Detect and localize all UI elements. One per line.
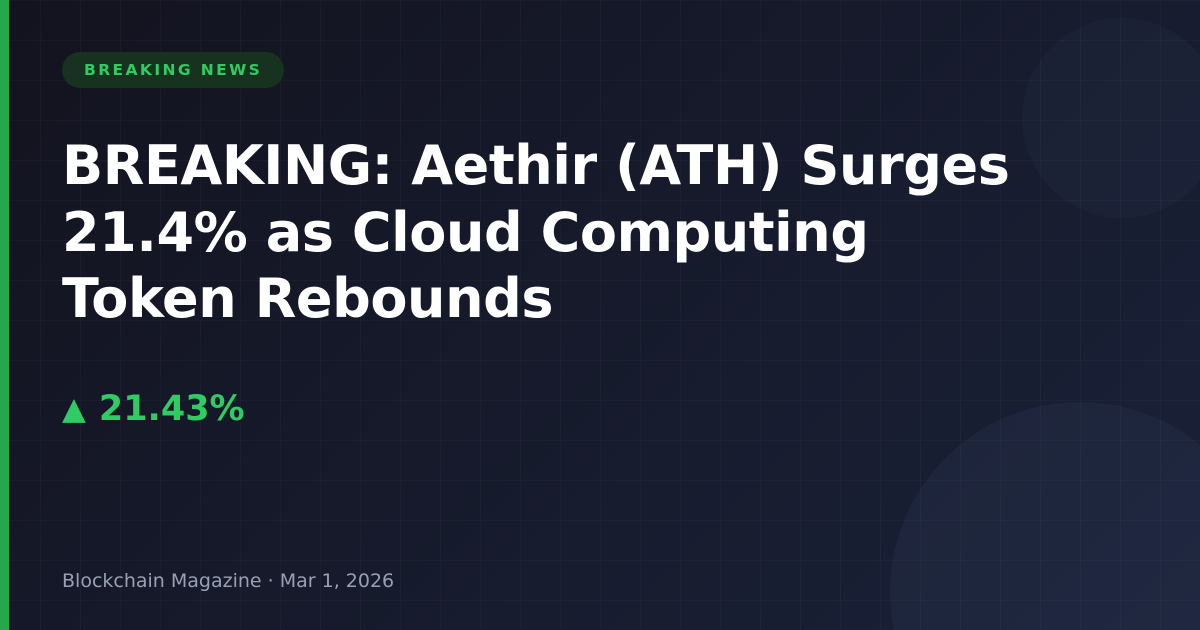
breaking-news-badge: BREAKING NEWS — [62, 52, 284, 88]
price-change-indicator: ▲ 21.43% — [62, 389, 1138, 429]
left-accent-bar — [0, 0, 9, 630]
footer-attribution: Blockchain Magazine · Mar 1, 2026 — [62, 570, 394, 592]
page-title: BREAKING: Aethir (ATH) Surges 21.4% as C… — [62, 133, 1012, 333]
price-change-value: 21.43% — [99, 389, 245, 429]
arrow-up-icon: ▲ — [62, 394, 86, 425]
breaking-news-card: BREAKING NEWS BREAKING: Aethir (ATH) Sur… — [0, 0, 1200, 630]
card-content: BREAKING NEWS BREAKING: Aethir (ATH) Sur… — [0, 0, 1200, 630]
